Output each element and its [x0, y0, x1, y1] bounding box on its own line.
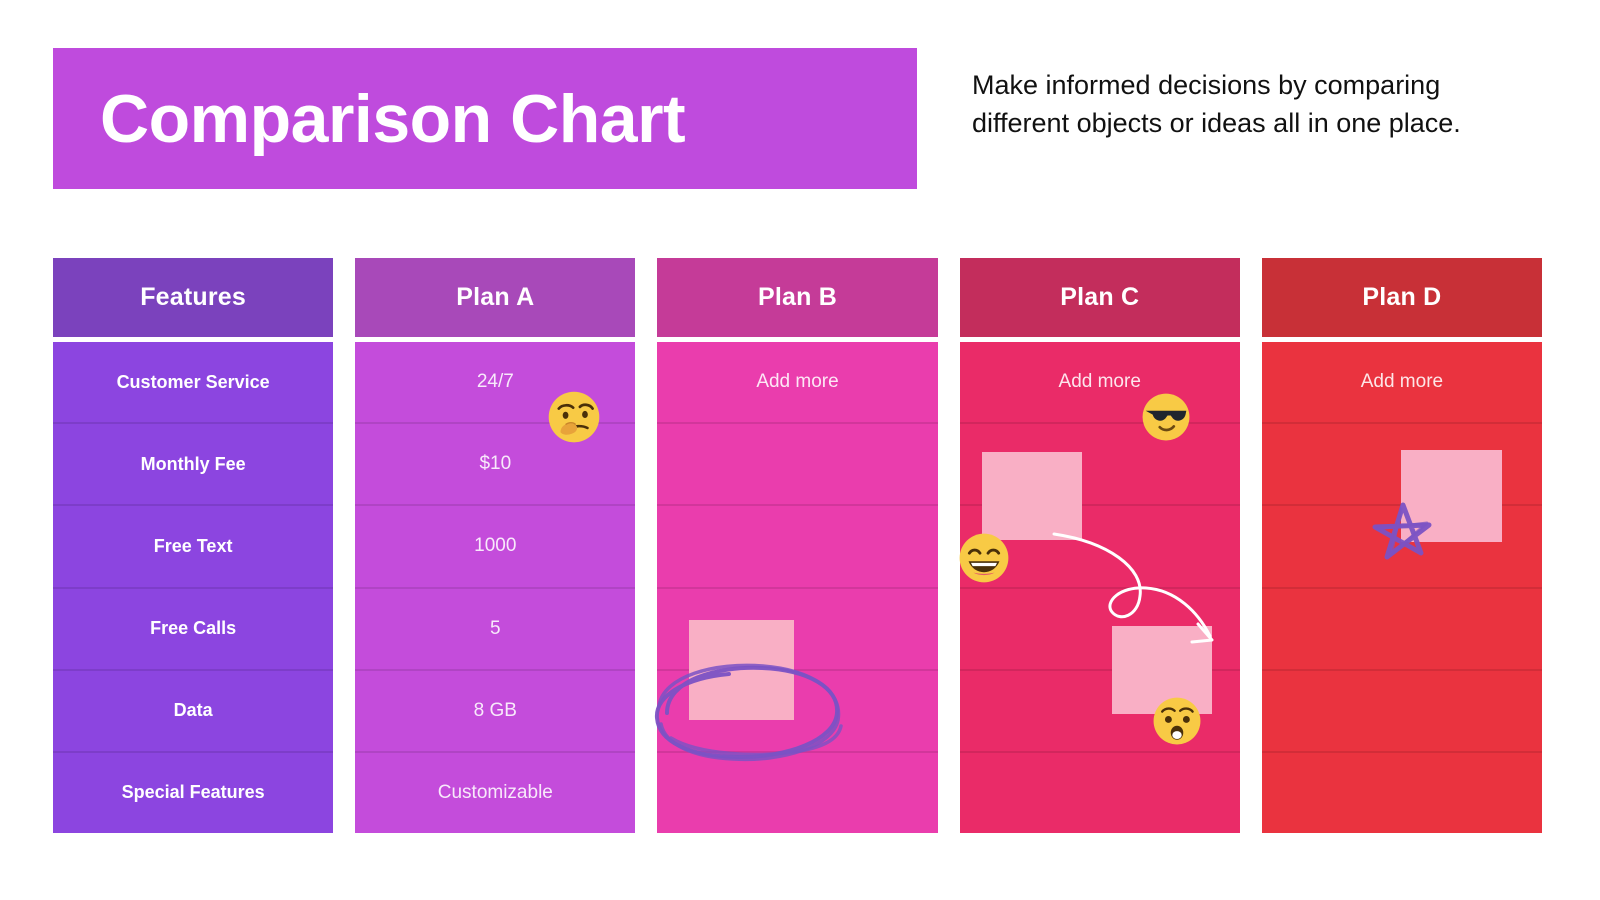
table-cell[interactable] — [960, 751, 1240, 833]
column-features: Features Customer Service Monthly Fee Fr… — [53, 258, 333, 833]
page-subtitle: Make informed decisions by comparing dif… — [972, 66, 1492, 143]
column-body-plan-c: Add more — [960, 342, 1240, 833]
column-plan-d: Plan D Add more — [1262, 258, 1542, 833]
table-cell[interactable] — [1262, 587, 1542, 669]
table-row: Free Text — [53, 504, 333, 586]
title-banner: Comparison Chart — [53, 48, 917, 189]
page-title: Comparison Chart — [53, 85, 685, 153]
column-body-plan-d: Add more — [1262, 342, 1542, 833]
comparison-table: Features Customer Service Monthly Fee Fr… — [53, 258, 1542, 833]
table-cell[interactable] — [1262, 751, 1542, 833]
table-cell[interactable]: 5 — [355, 587, 635, 669]
column-header-plan-b: Plan B — [657, 258, 937, 337]
star-scribble-annotation — [1367, 499, 1439, 565]
grinning-face-emoji[interactable] — [958, 532, 1010, 584]
table-cell[interactable]: Add more — [960, 342, 1240, 422]
table-cell[interactable]: Customizable — [355, 751, 635, 833]
table-cell[interactable] — [657, 504, 937, 586]
column-header-plan-a: Plan A — [355, 258, 635, 337]
sunglasses-face-emoji[interactable] — [1141, 392, 1191, 442]
table-row: Data — [53, 669, 333, 751]
column-plan-b: Plan B Add more — [657, 258, 937, 833]
column-header-plan-d: Plan D — [1262, 258, 1542, 337]
table-row: Special Features — [53, 751, 333, 833]
table-row: Monthly Fee — [53, 422, 333, 504]
column-header-features: Features — [53, 258, 333, 337]
table-cell[interactable]: Add more — [1262, 342, 1542, 422]
table-cell[interactable] — [1262, 669, 1542, 751]
table-cell[interactable]: Add more — [657, 342, 937, 422]
table-cell[interactable] — [657, 422, 937, 504]
column-plan-a: Plan A 24/7 $10 1000 5 8 GB Customizable — [355, 258, 635, 833]
comparison-chart-page: Comparison Chart Make informed decisions… — [0, 0, 1600, 900]
astonished-face-emoji[interactable] — [1152, 696, 1202, 746]
table-row: Free Calls — [53, 587, 333, 669]
thinking-face-emoji[interactable] — [547, 390, 601, 444]
table-cell[interactable]: 1000 — [355, 504, 635, 586]
column-header-plan-c: Plan C — [960, 258, 1240, 337]
table-row: Customer Service — [53, 342, 333, 422]
column-body-features: Customer Service Monthly Fee Free Text F… — [53, 342, 333, 833]
sticky-note[interactable] — [982, 452, 1082, 540]
circle-scribble-annotation — [637, 658, 847, 768]
table-cell[interactable]: 8 GB — [355, 669, 635, 751]
